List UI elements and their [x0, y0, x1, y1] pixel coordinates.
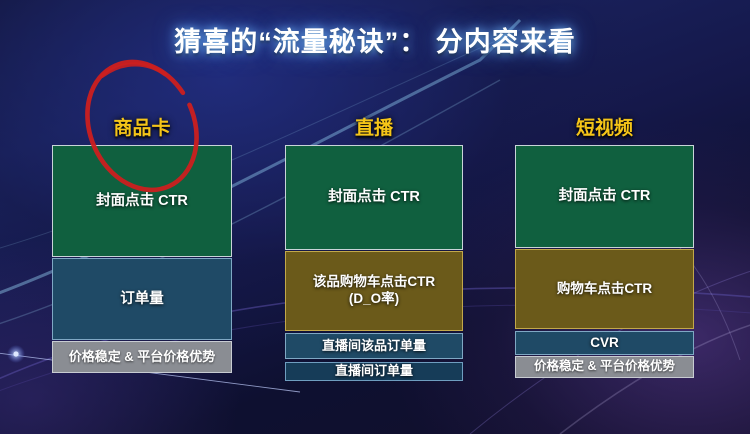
metric-block-cover-ctr[interactable]: 封面点击 CTR	[515, 145, 694, 248]
column-header-short-video: 短视频	[515, 113, 694, 140]
metric-label: 直播间订单量	[329, 363, 419, 379]
metric-label: 购物车点击CTR	[551, 281, 658, 298]
column-short-video: 短视频 封面点击 CTR 购物车点击CTR CVR 价格稳定 & 平台价格优势	[515, 145, 694, 379]
metric-label: 该品购物车点击CTR	[307, 274, 441, 291]
column-product-card: 商品卡 封面点击 CTR 订单量 价格稳定 & 平台价格优势	[52, 145, 232, 378]
metric-block-price-stability[interactable]: 价格稳定 & 平台价格优势	[52, 341, 232, 373]
metric-label: 封面点击 CTR	[553, 187, 657, 205]
metric-label: 价格稳定 & 平台价格优势	[528, 359, 681, 375]
metric-label: 封面点击 CTR	[90, 192, 194, 210]
metric-block-cart-ctr-do[interactable]: 该品购物车点击CTR (D_O率)	[285, 251, 463, 331]
metric-block-room-item-orders[interactable]: 直播间该品订单量	[285, 333, 463, 359]
metric-block-cover-ctr[interactable]: 封面点击 CTR	[285, 145, 463, 250]
column-header-product-card: 商品卡	[52, 113, 232, 140]
page-title: 猜喜的“流量秘诀”： 分内容来看	[0, 20, 750, 59]
metric-block-price-stability[interactable]: 价格稳定 & 平台价格优势	[515, 356, 694, 378]
metric-block-order-volume[interactable]: 订单量	[52, 258, 232, 340]
metric-block-cover-ctr[interactable]: 封面点击 CTR	[52, 145, 232, 257]
metric-label: 封面点击 CTR	[322, 188, 426, 206]
metric-label: 价格稳定 & 平台价格优势	[63, 349, 222, 365]
metric-label: 订单量	[114, 290, 170, 308]
slide-canvas: 猜喜的“流量秘诀”： 分内容来看 商品卡 封面点击 CTR 订单量 价格稳定 &…	[0, 0, 750, 434]
metric-block-room-orders[interactable]: 直播间订单量	[285, 362, 463, 381]
metric-label-sub: (D_O率)	[343, 291, 405, 308]
metric-label: CVR	[584, 335, 625, 352]
column-header-livestream: 直播	[285, 113, 463, 140]
metric-label: 直播间该品订单量	[316, 338, 432, 354]
metric-block-cart-ctr[interactable]: 购物车点击CTR	[515, 249, 694, 329]
column-livestream: 直播 封面点击 CTR 该品购物车点击CTR (D_O率) 直播间该品订单量 直…	[285, 145, 463, 381]
metric-block-cvr[interactable]: CVR	[515, 331, 694, 355]
